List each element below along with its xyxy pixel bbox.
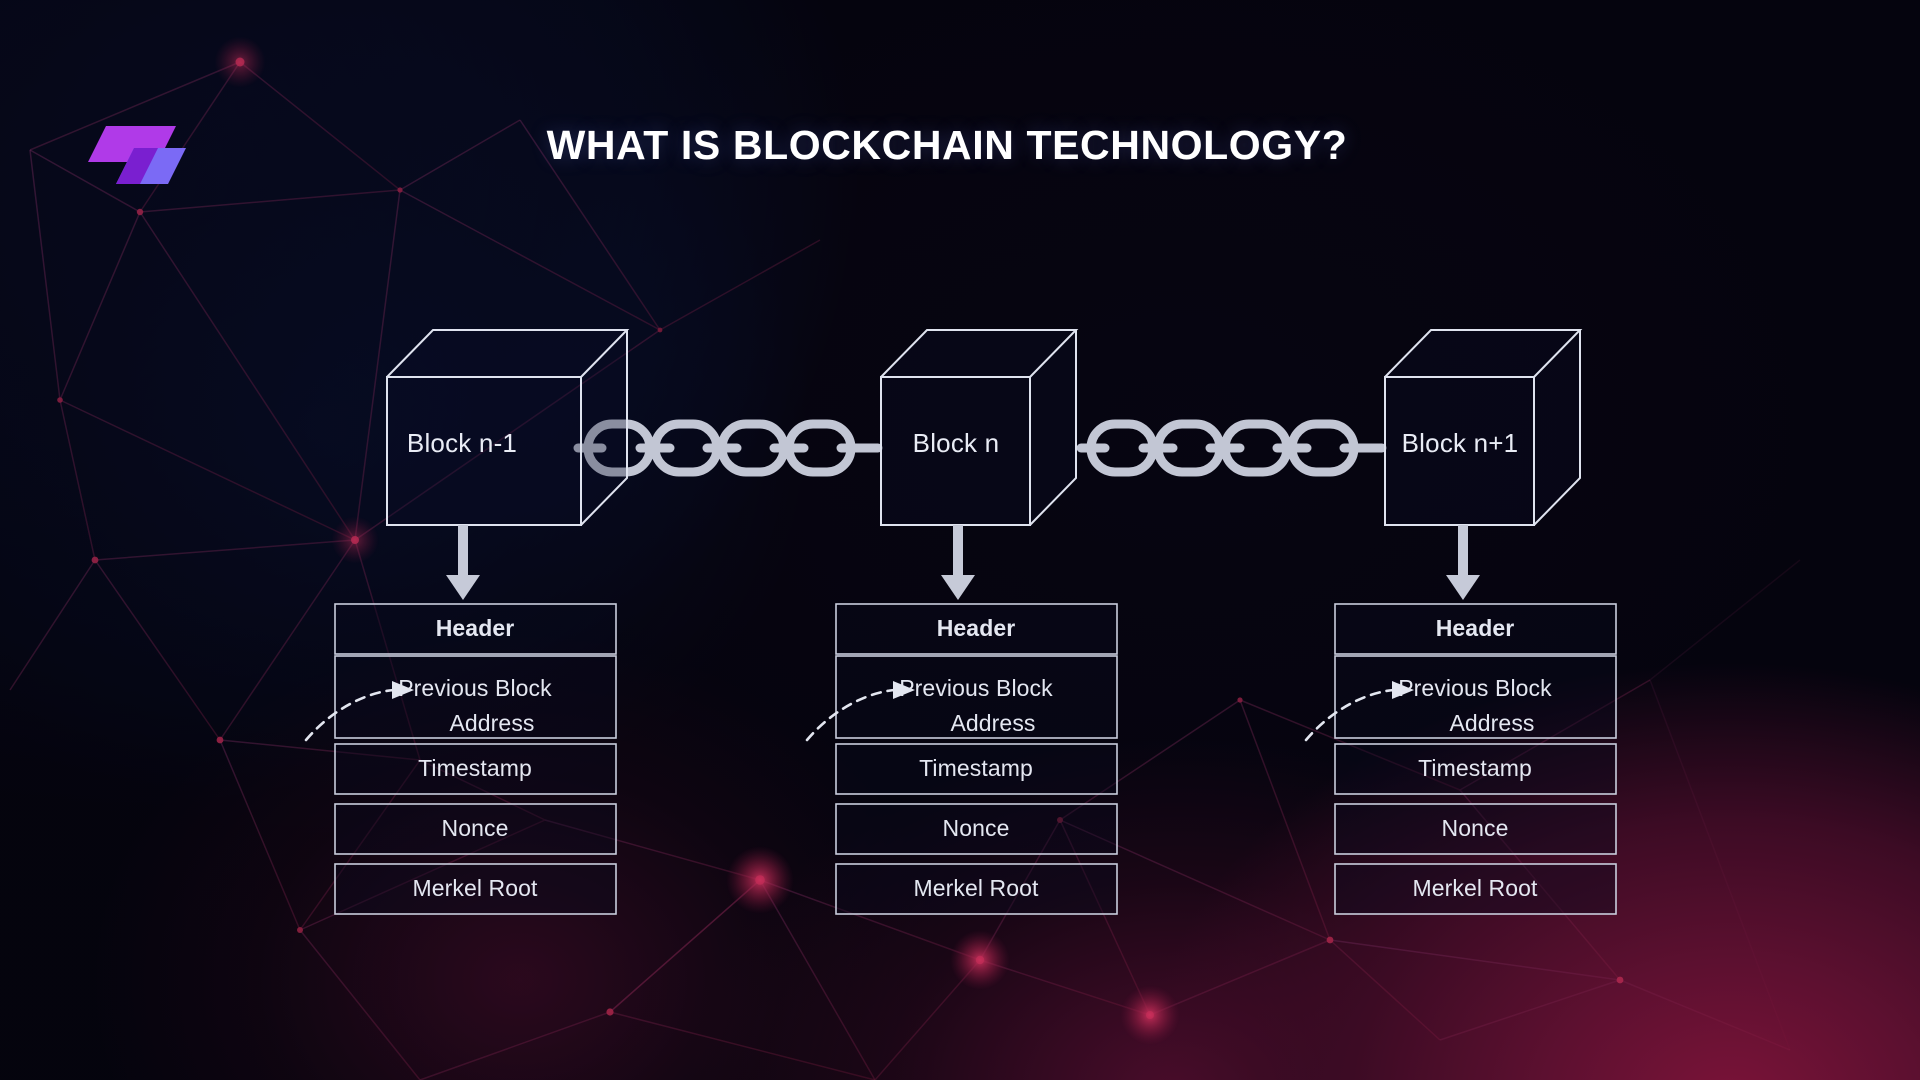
field-nonce[interactable]: Nonce xyxy=(335,804,616,854)
field-label: Header xyxy=(937,615,1016,641)
field-label: Timestamp xyxy=(919,755,1033,781)
field-label: Nonce xyxy=(943,815,1010,841)
cube-label: Block n xyxy=(913,428,1000,458)
field-timestamp[interactable]: Timestamp xyxy=(836,744,1117,794)
field-timestamp[interactable]: Timestamp xyxy=(1335,744,1616,794)
cube-block-n-plus-1[interactable]: Block n+1 xyxy=(1385,330,1580,525)
cube-block-n-minus-1[interactable]: Block n-1 xyxy=(387,330,627,525)
field-label: Merkel Root xyxy=(1412,875,1538,901)
field-label-line2: Address xyxy=(1449,710,1534,736)
block-group-n: Block n Header Previous Block Address xyxy=(807,330,1117,914)
field-label: Timestamp xyxy=(418,755,532,781)
field-previous-block-address[interactable]: Previous Block Address xyxy=(335,656,616,738)
chain-segment-2 xyxy=(1081,424,1382,472)
blockchain-diagram: Block n-1 Header Previous Block Address xyxy=(0,0,1920,1080)
field-previous-block-address[interactable]: Previous Block Address xyxy=(1335,656,1616,738)
cube-label: Block n-1 xyxy=(407,428,517,458)
field-header[interactable]: Header xyxy=(836,604,1117,654)
field-stack-block-n: Header Previous Block Address Timestamp … xyxy=(836,604,1117,914)
field-merkel-root[interactable]: Merkel Root xyxy=(1335,864,1616,914)
field-label-line2: Address xyxy=(449,710,534,736)
field-label: Header xyxy=(436,615,515,641)
field-stack-block-n-minus-1: Header Previous Block Address Timestamp … xyxy=(335,604,616,914)
slide-canvas: WHAT IS BLOCKCHAIN TECHNOLOGY? xyxy=(0,0,1920,1080)
field-timestamp[interactable]: Timestamp xyxy=(335,744,616,794)
field-label: Nonce xyxy=(1442,815,1509,841)
down-arrow-block-n xyxy=(941,525,975,600)
down-arrow-block-n-plus-1 xyxy=(1446,525,1480,600)
down-arrow-block-n-minus-1 xyxy=(446,525,480,600)
cube-block-n[interactable]: Block n xyxy=(881,330,1076,525)
field-label-line1: Previous Block xyxy=(398,675,552,701)
field-stack-block-n-plus-1: Header Previous Block Address Timestamp … xyxy=(1335,604,1616,914)
field-label: Merkel Root xyxy=(412,875,538,901)
field-label-line1: Previous Block xyxy=(899,675,1053,701)
field-nonce[interactable]: Nonce xyxy=(1335,804,1616,854)
field-previous-block-address[interactable]: Previous Block Address xyxy=(836,656,1117,738)
field-merkel-root[interactable]: Merkel Root xyxy=(335,864,616,914)
field-header[interactable]: Header xyxy=(1335,604,1616,654)
field-label-line1: Previous Block xyxy=(1398,675,1552,701)
field-label: Merkel Root xyxy=(913,875,1039,901)
field-header[interactable]: Header xyxy=(335,604,616,654)
cube-label: Block n+1 xyxy=(1402,428,1519,458)
field-label: Nonce xyxy=(442,815,509,841)
field-label-line2: Address xyxy=(950,710,1035,736)
field-label: Timestamp xyxy=(1418,755,1532,781)
field-label: Header xyxy=(1436,615,1515,641)
field-nonce[interactable]: Nonce xyxy=(836,804,1117,854)
block-group-n-plus-1: Block n+1 Header Previous Block Address xyxy=(1306,330,1616,914)
field-merkel-root[interactable]: Merkel Root xyxy=(836,864,1117,914)
block-group-n-minus-1: Block n-1 Header Previous Block Address xyxy=(306,330,627,914)
